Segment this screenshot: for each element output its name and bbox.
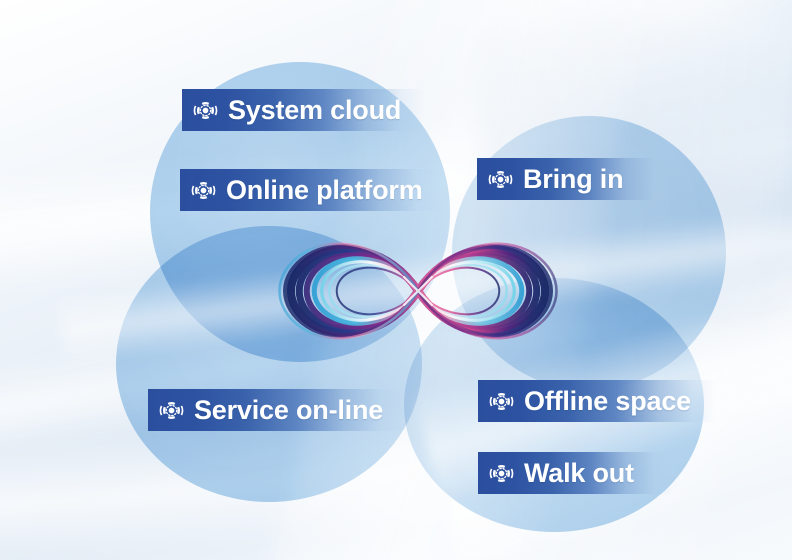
radar-target-icon (190, 177, 217, 204)
label-text: Online platform (226, 177, 423, 204)
radar-target-icon (158, 397, 185, 424)
label-system-cloud[interactable]: System cloud (182, 89, 424, 131)
infographic-canvas: System cloud Online platform (0, 0, 792, 560)
label-text: System cloud (228, 97, 401, 124)
radar-target-icon (487, 166, 514, 193)
label-offline-space[interactable]: Offline space (478, 380, 716, 422)
radar-target-icon (488, 388, 515, 415)
label-text: Service on-line (194, 397, 383, 424)
label-service-online[interactable]: Service on-line (148, 389, 406, 431)
infinity-symbol-icon (272, 232, 564, 350)
label-bring-in[interactable]: Bring in (477, 158, 674, 200)
label-online-platform[interactable]: Online platform (180, 169, 442, 211)
label-text: Offline space (524, 388, 691, 415)
radar-target-icon (192, 97, 219, 124)
label-text: Walk out (524, 460, 634, 487)
label-text: Bring in (523, 166, 623, 193)
label-walk-out[interactable]: Walk out (478, 452, 674, 494)
radar-target-icon (488, 460, 515, 487)
